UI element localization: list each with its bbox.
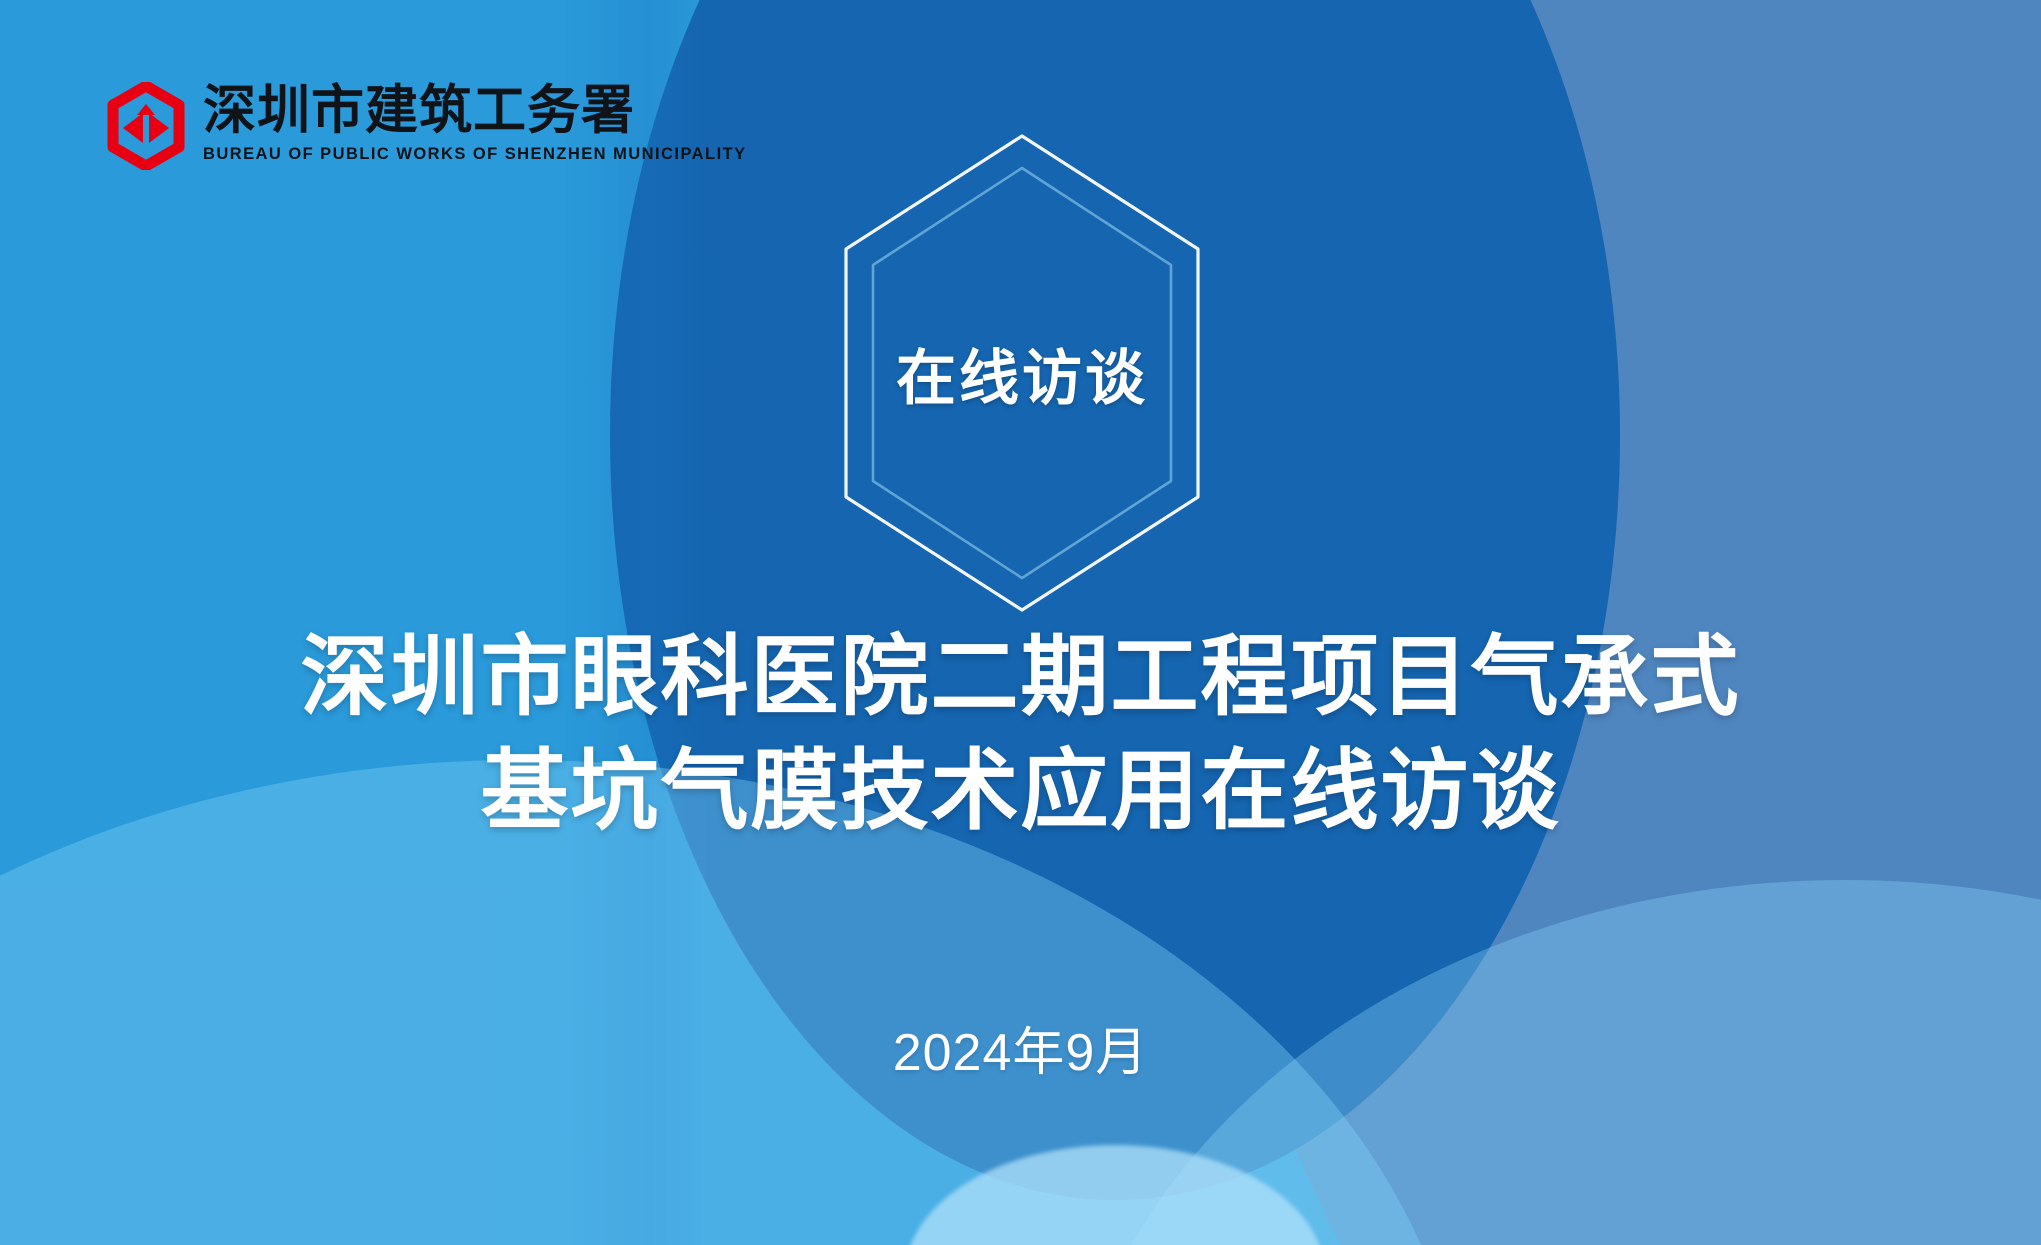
slide-date: 2024年9月 bbox=[0, 1010, 2041, 1085]
slide-title-line-2: 基坑气膜技术应用在线访谈 bbox=[0, 734, 2041, 848]
badge-label: 在线访谈 bbox=[827, 128, 1217, 618]
online-interview-hex-badge: 在线访谈 bbox=[827, 128, 1217, 618]
hexagon-emblem-icon bbox=[103, 82, 189, 170]
logo-title-chinese: 深圳市建筑工务署 bbox=[203, 84, 747, 137]
slide-title-line-1: 深圳市眼科医院二期工程项目气承式 bbox=[0, 620, 2041, 734]
background-overlap-glow bbox=[905, 1145, 1325, 1245]
title-slide: 深圳市建筑工务署 BUREAU OF PUBLIC WORKS OF SHENZ… bbox=[0, 0, 2041, 1245]
organization-logo: 深圳市建筑工务署 BUREAU OF PUBLIC WORKS OF SHENZ… bbox=[103, 78, 747, 170]
slide-title: 深圳市眼科医院二期工程项目气承式 基坑气膜技术应用在线访谈 bbox=[0, 620, 2041, 849]
logo-text-block: 深圳市建筑工务署 BUREAU OF PUBLIC WORKS OF SHENZ… bbox=[203, 78, 747, 164]
logo-title-english: BUREAU OF PUBLIC WORKS OF SHENZHEN MUNIC… bbox=[203, 145, 747, 164]
